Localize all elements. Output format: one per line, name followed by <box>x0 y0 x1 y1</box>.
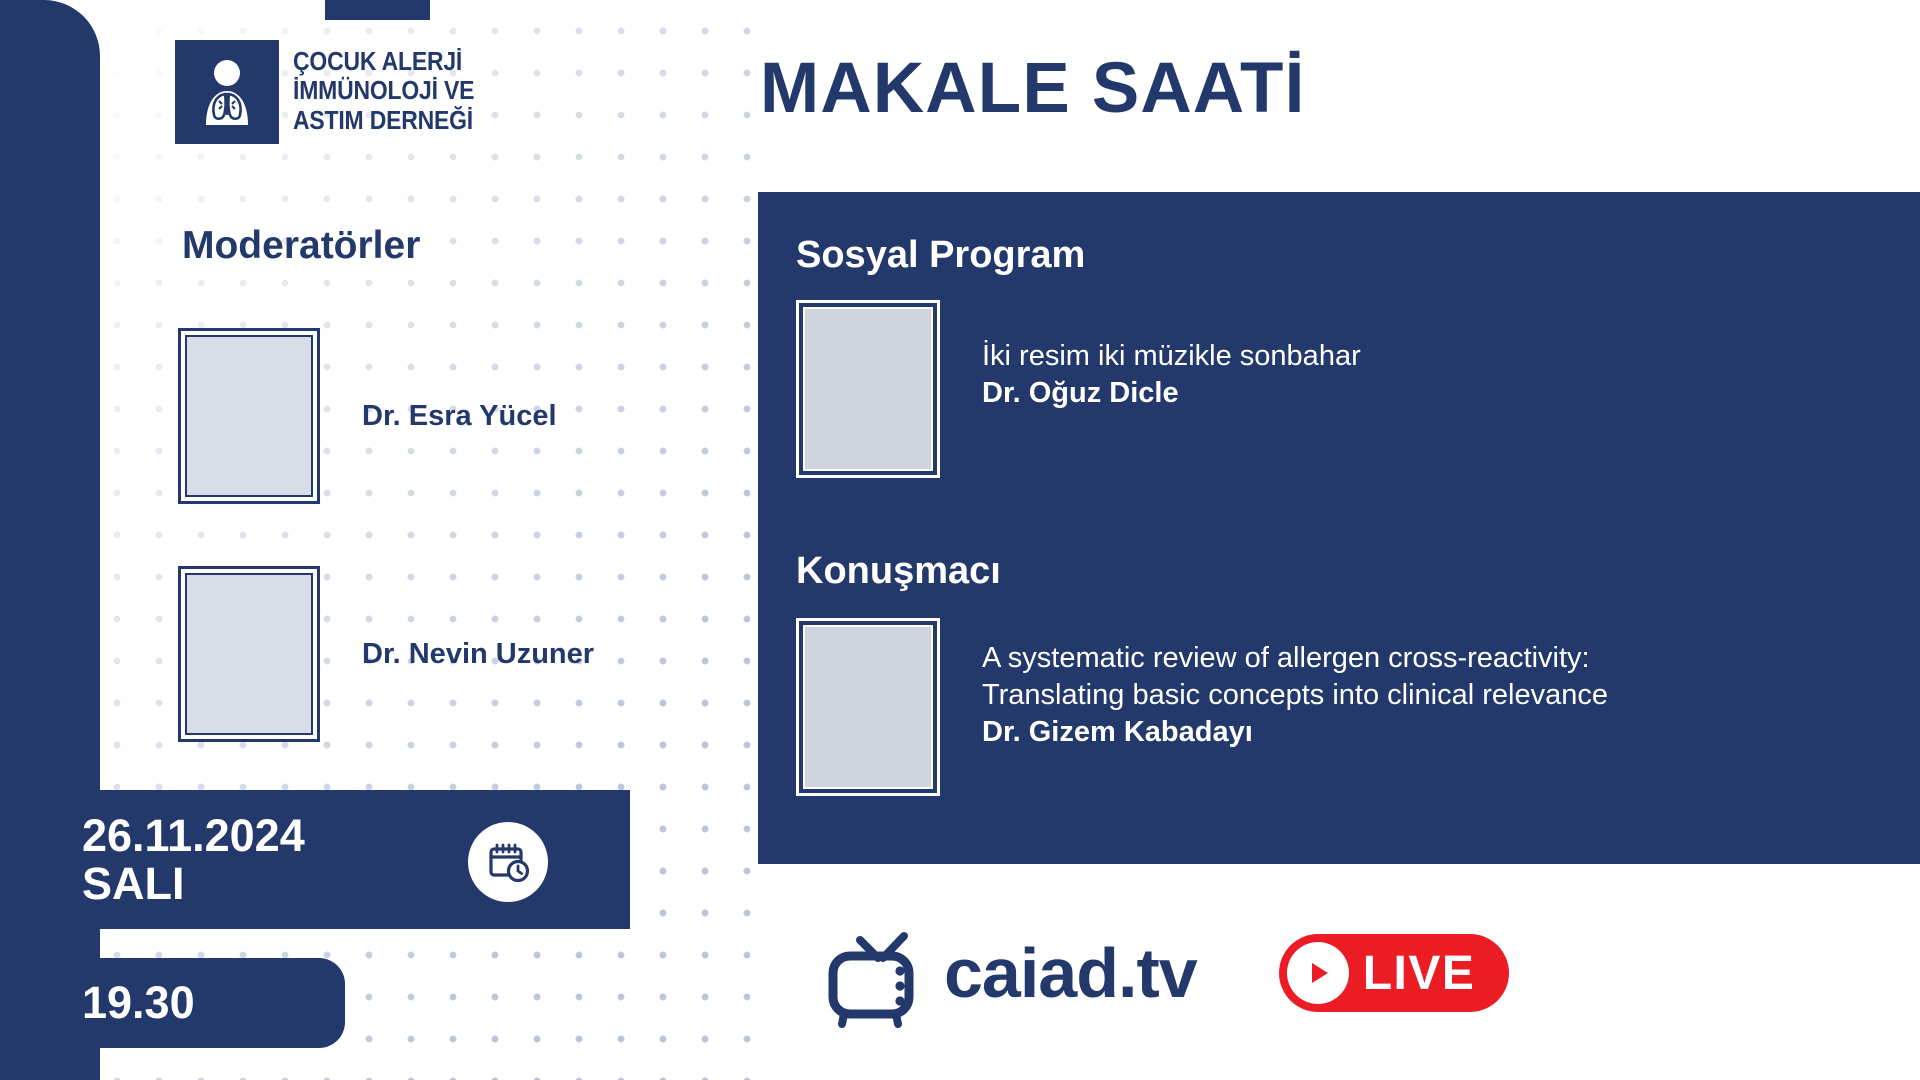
social-talk-title: İki resim iki müzikle sonbahar <box>982 338 1361 375</box>
moderators-heading: Moderatörler <box>182 224 420 268</box>
social-program-heading: Sosyal Program <box>796 234 1085 277</box>
logo-line-3: ASTIM DERNEĞİ <box>293 107 474 136</box>
event-time-block: 19.30 <box>0 958 345 1048</box>
social-speaker-photo <box>805 309 931 469</box>
speaker-heading: Konuşmacı <box>796 550 1001 593</box>
speaker-item: A systematic review of allergen cross-re… <box>796 618 1608 796</box>
logo-wordmark: ÇOCUK ALERJİ İMMÜNOLOJİ VE ASTIM DERNEĞİ <box>293 48 474 135</box>
speaker-talk-title: A systematic review of allergen cross-re… <box>982 640 1608 714</box>
calendar-clock-icon <box>468 822 548 902</box>
caiad-tv-brand[interactable]: caiad.tv <box>820 918 1197 1028</box>
retro-tv-icon <box>820 918 938 1028</box>
speaker-photo <box>805 627 931 787</box>
moderator-item: Dr. Esra Yücel <box>178 328 557 504</box>
moderator-photo <box>187 575 311 733</box>
program-panel: Sosyal Program İki resim iki müzikle son… <box>758 192 1920 864</box>
association-logo: ÇOCUK ALERJİ İMMÜNOLOJİ VE ASTIM DERNEĞİ <box>175 40 494 144</box>
page-title: MAKALE SAATİ <box>760 48 1306 129</box>
poster-canvas: ÇOCUK ALERJİ İMMÜNOLOJİ VE ASTIM DERNEĞİ… <box>0 0 1920 1080</box>
live-label: LIVE <box>1363 946 1476 1001</box>
speaker-name: Dr. Gizem Kabadayı <box>982 716 1608 749</box>
moderator-photo-frame <box>178 328 320 504</box>
moderator-name: Dr. Nevin Uzuner <box>362 638 594 671</box>
event-time: 19.30 <box>82 977 195 1029</box>
logo-line-1: ÇOCUK ALERJİ <box>293 48 474 77</box>
play-icon <box>1287 942 1349 1004</box>
footer-bar: caiad.tv LIVE <box>760 866 1810 1080</box>
live-badge[interactable]: LIVE <box>1279 934 1510 1012</box>
social-speaker-photo-frame <box>796 300 940 478</box>
social-program-item: İki resim iki müzikle sonbahar Dr. Oğuz … <box>796 300 1361 478</box>
moderator-name: Dr. Esra Yücel <box>362 400 557 433</box>
brand-wordmark: caiad.tv <box>944 933 1197 1013</box>
logo-line-2: İMMÜNOLOJİ VE <box>293 77 474 106</box>
moderator-photo-frame <box>178 566 320 742</box>
event-date: 26.11.2024 SALI <box>82 812 305 907</box>
moderator-item: Dr. Nevin Uzuner <box>178 566 594 742</box>
moderator-photo <box>187 337 311 495</box>
social-speaker-name: Dr. Oğuz Dicle <box>982 377 1361 410</box>
lungs-person-icon <box>175 40 279 144</box>
speaker-photo-frame <box>796 618 940 796</box>
top-accent-tab <box>325 0 430 20</box>
